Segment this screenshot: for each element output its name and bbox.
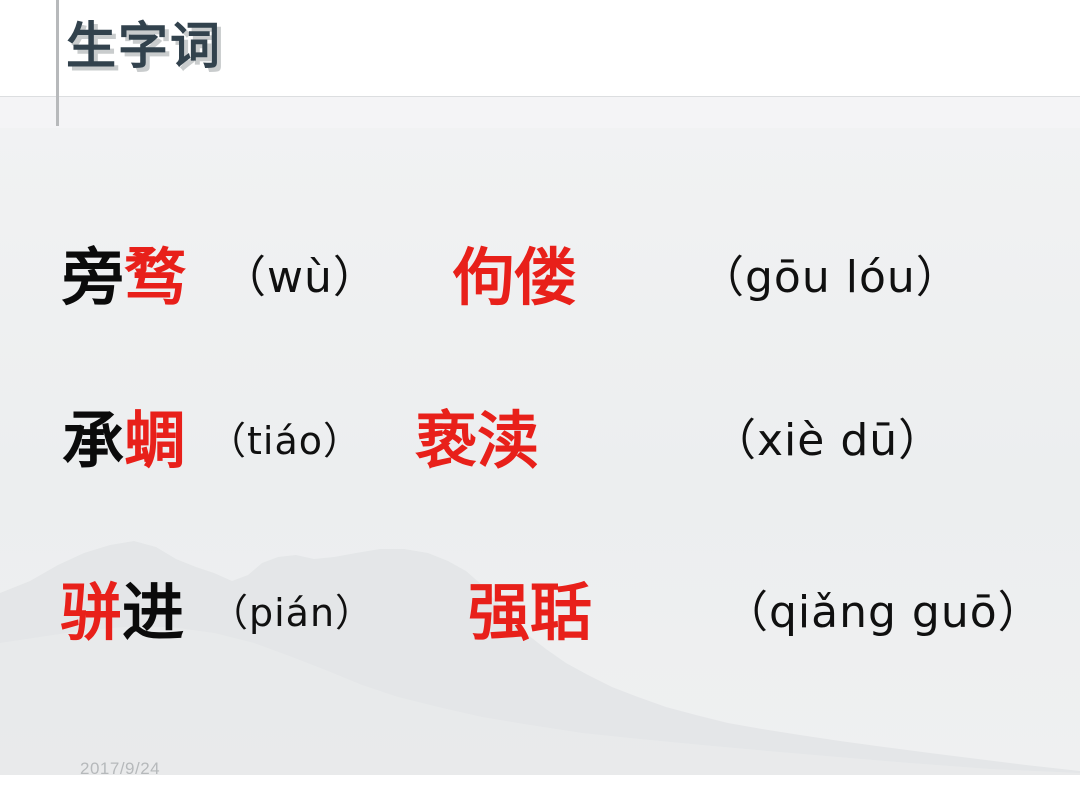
vocab-pinyin-right: （xiè dū） (712, 386, 943, 496)
vocab-pinyin-left: （wù） (222, 223, 378, 333)
vocab-char: 蜩 (124, 404, 186, 477)
header-subband (0, 97, 1080, 128)
vocab-row: 旁骛 （wù） 佝偻 （gōu lóu） (0, 223, 1080, 333)
vocab-word-left: 承蜩 (62, 386, 186, 496)
vocab-char: 渎 (477, 404, 539, 477)
vocab-char: 骈 (60, 576, 122, 649)
vocab-word-left: 骈进 (60, 558, 184, 668)
title-accent-bar (56, 0, 59, 126)
vocab-pinyin-left: （pián） (210, 558, 374, 668)
vocab-row: 承蜩 （tiáo） 亵渎 （xiè dū） (0, 386, 1080, 496)
vocab-pinyin-right: （gōu lóu） (700, 223, 961, 333)
slide-body: 旁骛 （wù） 佝偻 （gōu lóu） 承蜩 （tiáo） 亵渎 （xiè d… (0, 128, 1080, 775)
vocab-pinyin-left: （tiáo） (208, 386, 362, 496)
vocab-word-right: 佝偻 (452, 223, 576, 333)
vocab-word-left: 旁骛 (62, 223, 186, 333)
vocab-char: 偻 (514, 241, 576, 314)
vocab-char: 进 (122, 576, 184, 649)
vocab-row: 骈进 （pián） 强聒 （qiǎng guō） (0, 558, 1080, 668)
vocab-char: 聒 (530, 576, 592, 649)
vocab-pinyin-right: （qiǎng guō） (724, 558, 1043, 668)
slide-canvas: 生字词 旁骛 （wù） 佝偻 （gōu lóu） 承蜩 （tiáo） 亵渎 (0, 0, 1080, 810)
vocab-char: 承 (62, 404, 124, 477)
slide-footer-strip (0, 775, 1080, 810)
vocab-char: 旁 (62, 241, 124, 314)
vocab-word-right: 强聒 (468, 558, 592, 668)
vocab-char: 强 (468, 576, 530, 649)
vocab-char: 亵 (415, 404, 477, 477)
page-title: 生字词 (66, 14, 222, 78)
vocab-char: 佝 (452, 241, 514, 314)
vocab-word-right: 亵渎 (415, 386, 539, 496)
vocab-char: 骛 (124, 241, 186, 314)
